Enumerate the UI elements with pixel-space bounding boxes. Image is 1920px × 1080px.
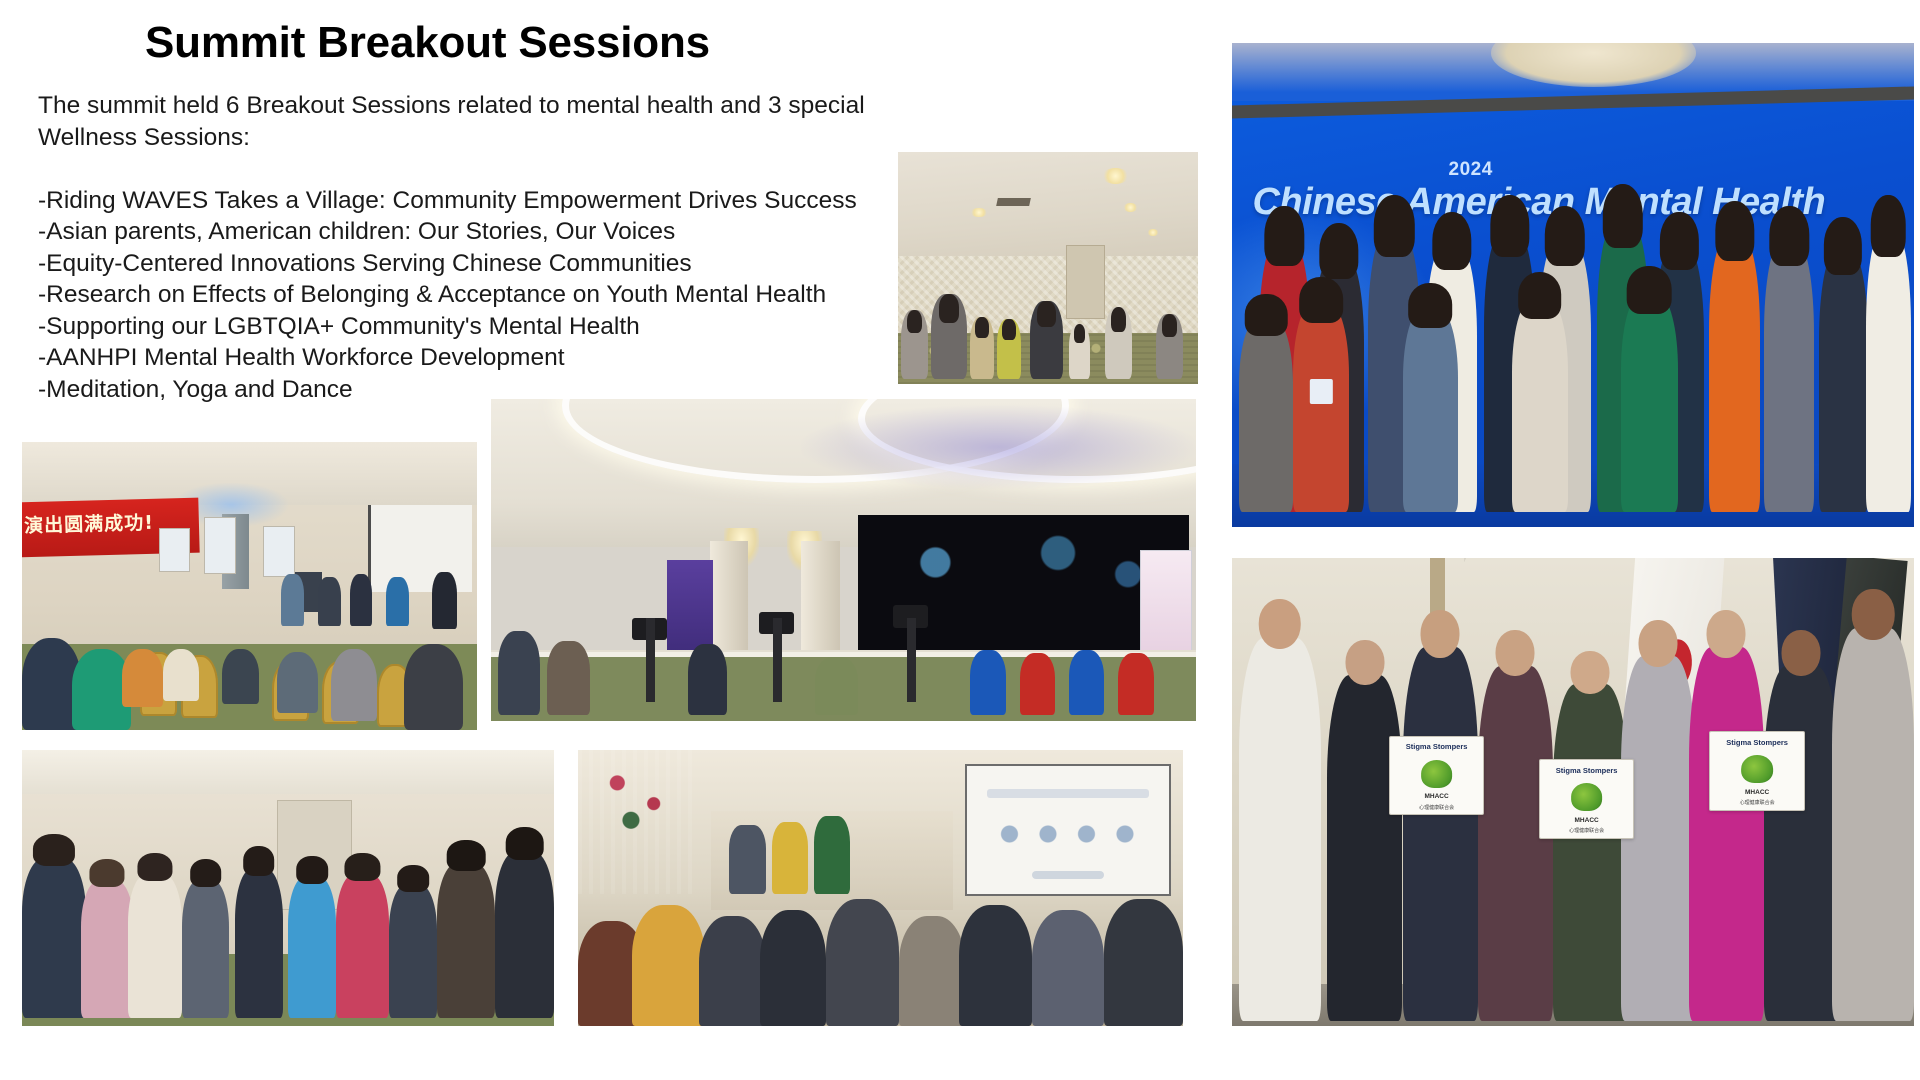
- panelist: [318, 577, 341, 626]
- panelist: [281, 574, 304, 626]
- session-list: -Riding WAVES Takes a Village: Community…: [38, 185, 938, 406]
- placard-title: Stigma Stompers: [1710, 738, 1803, 747]
- breakout-group-standing-photo: [22, 750, 554, 1026]
- photo-content: [22, 750, 554, 1026]
- photo-content: Stigma Stompers MHACC 心理健康联合会 Stigma Sto…: [1232, 558, 1914, 1026]
- camera-tripod: [773, 618, 782, 702]
- ceiling: [898, 152, 1198, 261]
- ceiling-light: [970, 208, 988, 217]
- mhacc-logo-icon: [1571, 783, 1603, 811]
- session-item: -Research on Effects of Belonging & Acce…: [38, 279, 938, 311]
- stigma-stompers-placard: Stigma Stompers MHACC 心理健康联合会: [1389, 736, 1484, 816]
- group-member: [1512, 300, 1568, 513]
- slide-footer: [1032, 871, 1105, 879]
- attendee: [437, 863, 496, 1018]
- attendee: [1069, 324, 1090, 380]
- attendee: [997, 319, 1021, 379]
- attendee: [128, 874, 181, 1018]
- audience-member: [760, 910, 827, 1026]
- camera-tripod: [646, 618, 655, 702]
- session-item: -Riding WAVES Takes a Village: Community…: [38, 185, 938, 217]
- stigma-stompers-group-photo: Stigma Stompers MHACC 心理健康联合会 Stigma Sto…: [1232, 558, 1914, 1026]
- audience-member: [222, 649, 258, 704]
- audience-member: [632, 905, 705, 1026]
- breakout-session-room-photo: 演出圆满成功!: [22, 442, 477, 730]
- presentation-screen: [965, 764, 1171, 896]
- ceiling: [22, 750, 554, 794]
- placard-chinese: 心理健康联合会: [1540, 827, 1633, 834]
- performer: [1118, 653, 1153, 714]
- wall-art: [263, 526, 295, 578]
- placard-chinese: 心理健康联合会: [1390, 804, 1483, 811]
- group-member: [1621, 295, 1678, 513]
- door: [1066, 245, 1105, 319]
- stigma-stompers-placard: Stigma Stompers MHACC 心理健康联合会: [1709, 731, 1804, 811]
- panelist: [432, 572, 457, 630]
- attendee: [81, 880, 134, 1018]
- audience-presentation-photo: [578, 750, 1183, 1026]
- panelist: [350, 574, 373, 626]
- attendee: [495, 852, 554, 1018]
- group-member: [1764, 666, 1839, 1022]
- audience-member: [163, 649, 199, 701]
- group-member: [1819, 251, 1868, 512]
- performer: [1069, 650, 1104, 714]
- page-title: Summit Breakout Sessions: [145, 18, 710, 68]
- session-item: -Equity-Centered Innovations Serving Chi…: [38, 248, 938, 280]
- event-poster: [1140, 550, 1193, 666]
- audience-member: [122, 649, 163, 707]
- attendee: [547, 641, 589, 715]
- placard-title: Stigma Stompers: [1540, 766, 1633, 775]
- slide-title-bar: [987, 789, 1148, 798]
- attendee: [970, 317, 994, 380]
- mhacc-logo-icon: [1741, 755, 1773, 783]
- stigma-stompers-placard: Stigma Stompers MHACC 心理健康联合会: [1539, 759, 1634, 839]
- audience-member: [699, 916, 766, 1026]
- group-member: [1327, 675, 1402, 1021]
- attendee: [498, 631, 540, 715]
- group-member: [1866, 232, 1910, 513]
- summit-banner-group-photo: 2024 Chinese American Mental Health: [1232, 43, 1914, 527]
- photo-content: 演出圆满成功!: [22, 442, 477, 730]
- group-member: [1403, 647, 1478, 1021]
- audience-member: [331, 649, 377, 721]
- placard-org: MHACC: [1390, 793, 1483, 800]
- attendee: [1156, 314, 1183, 379]
- audience-member: [959, 905, 1032, 1026]
- placard-org: MHACC: [1540, 817, 1633, 824]
- text-spacer: [38, 153, 938, 185]
- attendee: [688, 644, 727, 715]
- attendee: [1105, 307, 1132, 379]
- attendee: [288, 877, 336, 1018]
- group-member: [1293, 304, 1349, 512]
- photo-content: [578, 750, 1183, 1026]
- attendee: [389, 885, 437, 1017]
- session-text-block: The summit held 6 Breakout Sessions rela…: [38, 90, 938, 405]
- panelist: [386, 577, 409, 626]
- attendee: [22, 858, 86, 1018]
- mhacc-logo-icon: [1421, 760, 1453, 788]
- wall-art: [159, 528, 191, 571]
- group-member: [1621, 656, 1696, 1021]
- audience-member: [1104, 899, 1183, 1026]
- group-member: [1553, 684, 1628, 1021]
- performer: [1020, 653, 1055, 714]
- placard-org: MHACC: [1710, 789, 1803, 796]
- slide-icons: [991, 820, 1144, 848]
- group-member: [1764, 241, 1814, 512]
- projector-screen: [368, 505, 473, 591]
- group-member: [1239, 638, 1321, 1022]
- attendee: [182, 880, 230, 1018]
- banner-year-text: 2024: [1409, 159, 1532, 181]
- red-banner-text: 演出圆满成功!: [24, 507, 154, 537]
- group-member: [1239, 319, 1294, 513]
- group-member: [1478, 666, 1553, 1022]
- placard-chinese: 心理健康联合会: [1710, 799, 1803, 806]
- floral-wall-art: [590, 758, 681, 841]
- group-member: [1403, 309, 1459, 512]
- presenter: [772, 822, 808, 894]
- violet-uplight: [801, 405, 1196, 489]
- session-item: -Asian parents, American children: Our S…: [38, 216, 938, 248]
- performer: [970, 650, 1005, 714]
- attendee: [901, 310, 928, 380]
- presenter: [729, 825, 765, 894]
- group-member: [1689, 647, 1764, 1021]
- convention-banner-stand: [667, 560, 713, 657]
- attendee: [235, 869, 283, 1018]
- attendee: [336, 874, 389, 1018]
- ballroom-stage-performance-photo: [491, 399, 1196, 721]
- photo-content: [898, 152, 1198, 384]
- group-member: [1709, 237, 1759, 513]
- intro-line-1: The summit held 6 Breakout Sessions rela…: [38, 90, 938, 122]
- audience-member: [404, 644, 463, 730]
- attendee: [1030, 301, 1063, 380]
- group-member: [1832, 628, 1914, 1021]
- audience-member: [1032, 910, 1105, 1026]
- wall-art: [204, 517, 236, 575]
- attendee: [815, 657, 857, 715]
- ceiling-light: [1147, 229, 1159, 236]
- session-item: -Supporting our LGBTQIA+ Community's Men…: [38, 311, 938, 343]
- placard-title: Stigma Stompers: [1390, 742, 1483, 751]
- presenter: [814, 816, 850, 893]
- audience-member: [277, 652, 318, 712]
- attendee: [931, 294, 967, 380]
- intro-line-2: Wellness Sessions:: [38, 122, 938, 154]
- session-item: -AANHPI Mental Health Workforce Developm…: [38, 342, 938, 374]
- photo-content: 2024 Chinese American Mental Health: [1232, 43, 1914, 527]
- wellness-yoga-session-photo: [898, 152, 1198, 384]
- camera-tripod: [907, 618, 916, 702]
- audience-member: [899, 916, 966, 1026]
- photo-content: [491, 399, 1196, 721]
- slide-canvas: Summit Breakout Sessions The summit held…: [0, 0, 1920, 1080]
- audience-member: [826, 899, 899, 1026]
- ceiling-vent: [996, 198, 1031, 206]
